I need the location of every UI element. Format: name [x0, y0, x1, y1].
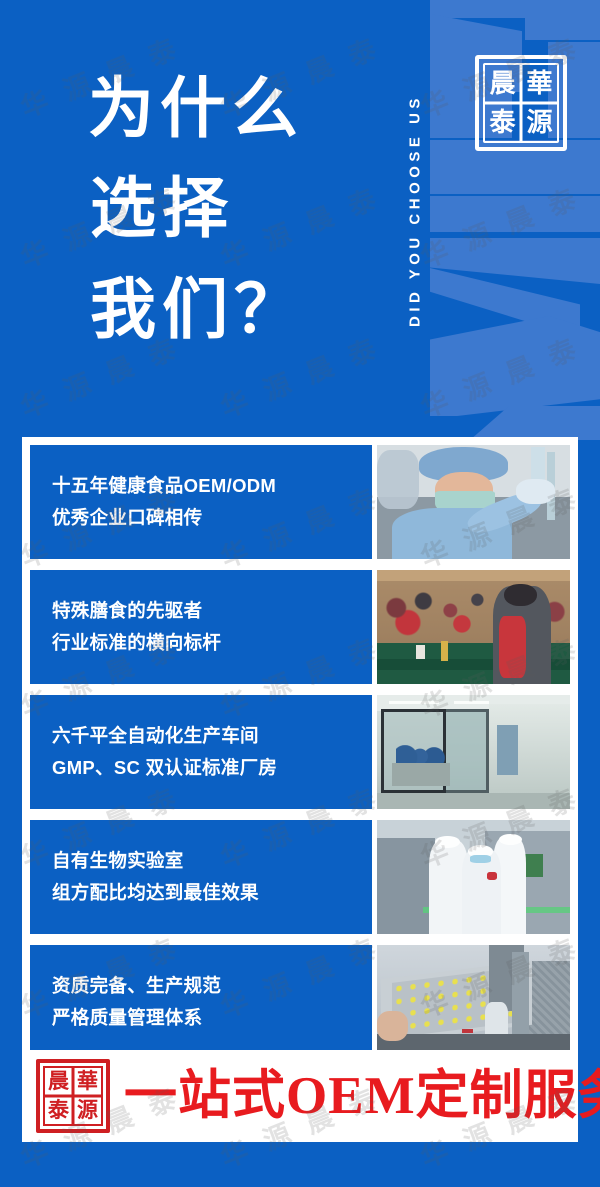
card-line: 严格质量管理体系	[52, 1002, 372, 1034]
seal-char-1: 晨	[484, 64, 521, 103]
card-text-4: 自有生物实验室 组方配比均达到最佳效果	[30, 820, 372, 934]
list-item[interactable]: 资质完备、生产规范 严格质量管理体系	[30, 945, 570, 1059]
brand-seal-white: 晨 華 泰 源	[475, 55, 567, 151]
cleanroom-corridor-photo	[377, 695, 570, 809]
list-item[interactable]: 特殊膳食的先驱者 行业标准的横向标杆	[30, 570, 570, 684]
banner-headline: 一站式OEM定制服务	[124, 1070, 600, 1123]
seal-char-4: 源	[73, 1096, 102, 1125]
seal-char-4: 源	[521, 103, 558, 142]
card-line: 特殊膳食的先驱者	[52, 595, 372, 627]
seal-char-3: 泰	[44, 1096, 73, 1125]
headline-line-2: 选择	[88, 160, 388, 260]
headline-line-1: 为什么	[88, 60, 388, 160]
card-line: 行业标准的横向标杆	[52, 627, 372, 659]
list-item[interactable]: 六千平全自动化生产车间 GMP、SC 双认证标准厂房	[30, 695, 570, 809]
card-line: 组方配比均达到最佳效果	[52, 877, 372, 909]
card-line: 十五年健康食品OEM/ODM	[52, 470, 372, 502]
card-text-2: 特殊膳食的先驱者 行业标准的横向标杆	[30, 570, 372, 684]
feature-panel: 十五年健康食品OEM/ODM 优秀企业口碑相传 特殊膳食的先驱者 行业标准的横向…	[22, 437, 578, 1067]
seal-char-2: 華	[521, 64, 558, 103]
card-line: 优秀企业口碑相传	[52, 502, 372, 534]
conference-audience-photo	[377, 570, 570, 684]
card-text-5: 资质完备、生产规范 严格质量管理体系	[30, 945, 372, 1059]
blister-packing-machine-photo	[377, 945, 570, 1059]
poster-root: 为什么 选择 我们？ DID YOU CHOOSE US 晨 華 泰 源 十五年…	[0, 0, 600, 1187]
lab-technician-photo	[377, 445, 570, 559]
card-text-3: 六千平全自动化生产车间 GMP、SC 双认证标准厂房	[30, 695, 372, 809]
card-line: GMP、SC 双认证标准厂房	[52, 752, 372, 784]
feature-card-list: 十五年健康食品OEM/ODM 优秀企业口碑相传 特殊膳食的先驱者 行业标准的横向…	[30, 445, 570, 1059]
headline-line-3: 我们？	[88, 261, 388, 361]
seal-char-1: 晨	[44, 1067, 73, 1096]
bottom-banner: 晨 華 泰 源 一站式OEM定制服务	[22, 1050, 578, 1142]
production-line-staff-photo	[377, 820, 570, 934]
list-item[interactable]: 十五年健康食品OEM/ODM 优秀企业口碑相传	[30, 445, 570, 559]
vertical-tagline: DID YOU CHOOSE US	[398, 14, 432, 408]
card-line: 自有生物实验室	[52, 845, 372, 877]
list-item[interactable]: 自有生物实验室 组方配比均达到最佳效果	[30, 820, 570, 934]
seal-char-3: 泰	[484, 103, 521, 142]
card-line: 六千平全自动化生产车间	[52, 720, 372, 752]
brand-seal-red: 晨 華 泰 源	[36, 1059, 110, 1133]
page-title: 为什么 选择 我们？	[88, 60, 388, 361]
card-text-1: 十五年健康食品OEM/ODM 优秀企业口碑相传	[30, 445, 372, 559]
seal-char-2: 華	[73, 1067, 102, 1096]
card-line: 资质完备、生产规范	[52, 970, 372, 1002]
